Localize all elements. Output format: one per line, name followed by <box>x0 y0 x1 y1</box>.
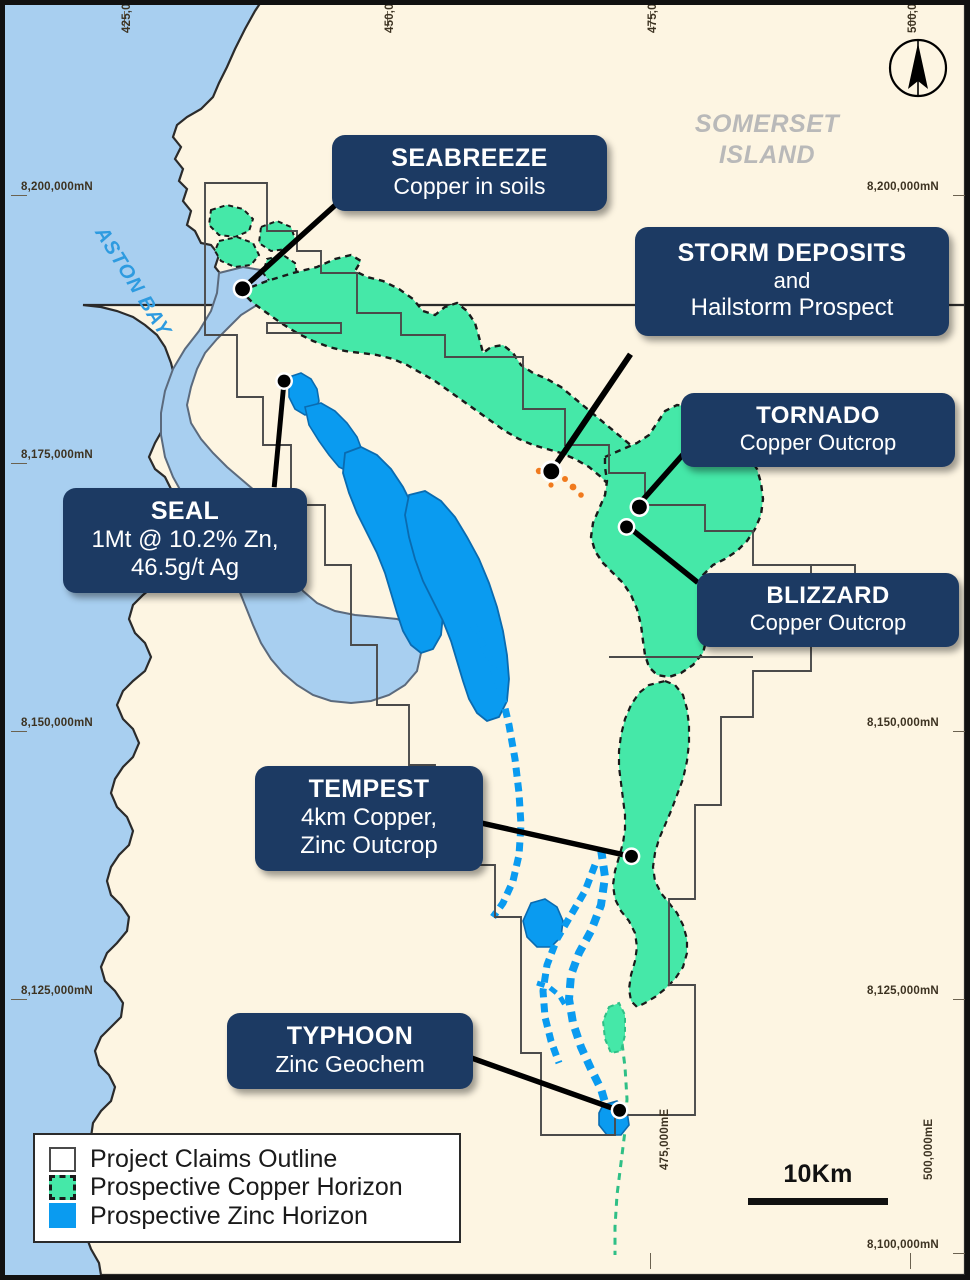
callout-tornado-title: TORNADO <box>697 402 939 430</box>
callout-seabreeze[interactable]: SEABREEZE Copper in soils <box>332 135 607 211</box>
callout-storm-middle: and <box>645 268 939 294</box>
legend-item-project-claims: Project Claims Outline <box>49 1146 447 1172</box>
grid-label-northing-8200000-left: 8,200,000mN <box>21 181 93 193</box>
callout-tempest[interactable]: TEMPEST 4km Copper, Zinc Outcrop <box>255 766 483 871</box>
legend-item-zinc-horizon: Prospective Zinc Horizon <box>49 1203 447 1229</box>
callout-seal[interactable]: SEAL 1Mt @ 10.2% Zn, 46.5g/t Ag <box>63 488 307 593</box>
legend-label-copper-horizon: Prospective Copper Horizon <box>90 1174 403 1200</box>
callout-blizzard-subtitle: Copper Outcrop <box>713 610 943 636</box>
place-label-somerset-island: SOMERSET ISLAND <box>677 109 857 172</box>
callout-seal-title: SEAL <box>79 497 291 526</box>
grid-tick-n8200-right <box>953 195 969 196</box>
callout-seabreeze-subtitle: Copper in soils <box>348 173 591 200</box>
callout-tempest-subtitle2: Zinc Outcrop <box>271 832 467 860</box>
claims-outline-swatch <box>49 1147 76 1172</box>
map-legend: Project Claims Outline Prospective Coppe… <box>33 1133 461 1243</box>
scale-bar-rule <box>748 1198 888 1205</box>
scale-bar: 10Km <box>738 1160 898 1205</box>
scale-bar-label: 10Km <box>738 1160 898 1189</box>
callout-tempest-title: TEMPEST <box>271 775 467 804</box>
callout-blizzard-title: BLIZZARD <box>713 582 943 610</box>
grid-tick-n8100-right <box>953 1253 969 1254</box>
grid-tick-n8125-left <box>11 999 27 1000</box>
callout-blizzard[interactable]: BLIZZARD Copper Outcrop <box>697 573 959 647</box>
grid-label-northing-8150000-left: 8,150,000mN <box>21 717 93 729</box>
grid-tick-e475-bottom <box>650 1253 651 1269</box>
somerset-island-line1: SOMERSET <box>695 110 839 138</box>
callout-seal-subtitle2: 46.5g/t Ag <box>79 554 291 582</box>
callout-seabreeze-title: SEABREEZE <box>348 144 591 173</box>
grid-label-northing-8125000-left: 8,125,000mN <box>21 985 93 997</box>
map-figure: 425,000mE 450,000mE 475,000mE 500,000mE … <box>0 0 970 1280</box>
grid-label-easting-500000-bottom: 500,000mE <box>923 1119 935 1180</box>
grid-label-northing-8150000-right: 8,150,000mN <box>867 717 939 729</box>
somerset-island-line2: ISLAND <box>719 141 815 169</box>
grid-label-northing-8200000-right: 8,200,000mN <box>867 181 939 193</box>
grid-tick-e500-bottom <box>910 1253 911 1269</box>
legend-label-zinc-horizon: Prospective Zinc Horizon <box>90 1203 368 1229</box>
grid-label-easting-450000: 450,000mE <box>384 0 396 33</box>
grid-label-easting-475000-bottom: 475,000mE <box>659 1109 671 1170</box>
grid-label-easting-475000: 475,000mE <box>647 0 659 33</box>
legend-label-project-claims: Project Claims Outline <box>90 1146 337 1172</box>
grid-label-northing-8125000-right: 8,125,000mN <box>867 985 939 997</box>
grid-tick-n8175-left <box>11 463 27 464</box>
callout-typhoon[interactable]: TYPHOON Zinc Geochem <box>227 1013 473 1089</box>
grid-label-northing-8175000-left: 8,175,000mN <box>21 449 93 461</box>
legend-item-copper-horizon: Prospective Copper Horizon <box>49 1174 447 1200</box>
north-arrow-icon <box>887 37 949 99</box>
callout-storm-subtitle: Hailstorm Prospect <box>645 294 939 322</box>
copper-horizon-swatch <box>49 1175 76 1200</box>
callout-typhoon-title: TYPHOON <box>243 1022 457 1051</box>
callout-typhoon-subtitle: Zinc Geochem <box>243 1051 457 1078</box>
grid-label-northing-8100000-right: 8,100,000mN <box>867 1239 939 1251</box>
callout-tornado-subtitle: Copper Outcrop <box>697 430 939 456</box>
callout-storm-deposits[interactable]: STORM DEPOSITS and Hailstorm Prospect <box>635 227 949 336</box>
callout-tempest-subtitle: 4km Copper, <box>271 804 467 832</box>
grid-label-easting-500000-top: 500,000mE <box>907 0 919 33</box>
grid-tick-n8200-left <box>11 195 27 196</box>
grid-tick-n8150-right <box>953 731 969 732</box>
callout-tornado[interactable]: TORNADO Copper Outcrop <box>681 393 955 467</box>
callout-seal-subtitle: 1Mt @ 10.2% Zn, <box>79 526 291 554</box>
grid-label-easting-425000: 425,000mE <box>121 0 133 33</box>
grid-tick-n8150-left <box>11 731 27 732</box>
grid-tick-n8125-right <box>953 999 969 1000</box>
zinc-horizon-swatch <box>49 1203 76 1228</box>
callout-storm-title: STORM DEPOSITS <box>645 239 939 268</box>
